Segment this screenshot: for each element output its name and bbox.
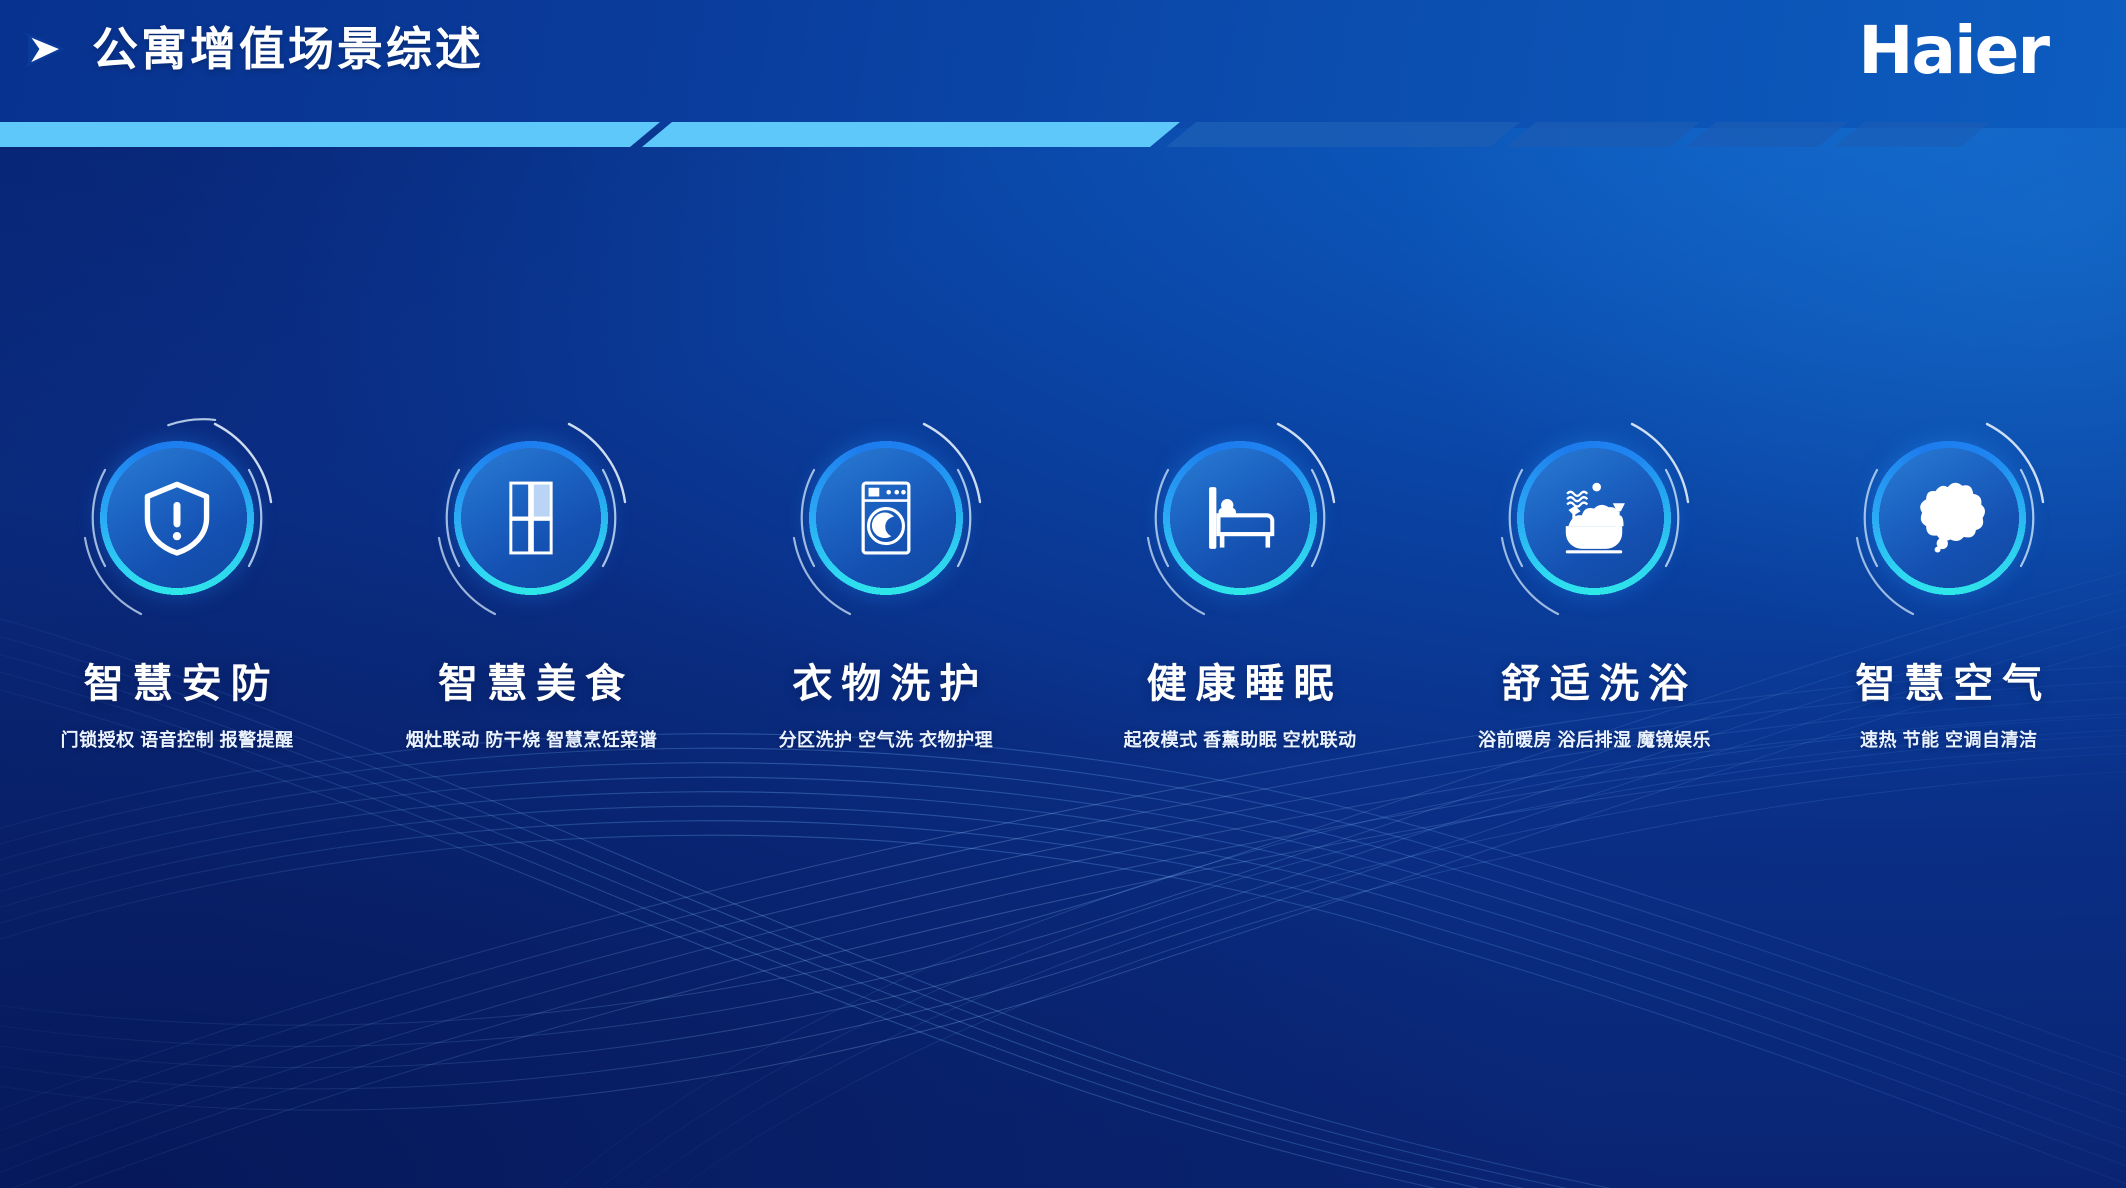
slide-header: 公寓增值场景综述 Haier: [0, 0, 2126, 128]
scene-badge: [1837, 406, 2061, 630]
scene-subtitle: 速热 节能 空调自清洁: [1860, 726, 2038, 752]
scene-badge: [1128, 406, 1352, 630]
haier-logo: Haier: [1858, 18, 2048, 84]
scene-item-laundry[interactable]: 衣物洗护 分区洗护 空气洗 衣物护理: [709, 406, 1063, 752]
arrow-right-triangle-icon: [22, 27, 66, 71]
bed-icon: [1197, 475, 1283, 561]
bathtub-icon: [1551, 475, 1637, 561]
shield-alert-icon: [134, 475, 220, 561]
cloud-air-icon: [1906, 475, 1992, 561]
scene-subtitle: 烟灶联动 防干烧 智慧烹饪菜谱: [406, 726, 658, 752]
page-title-group: 公寓增值场景综述: [22, 26, 484, 72]
scene-item-bathing[interactable]: 舒适洗浴 浴前暖房 浴后排湿 魔镜娱乐: [1417, 406, 1771, 752]
scene-badge: [774, 406, 998, 630]
scene-title: 舒适洗浴: [1492, 664, 1697, 704]
scene-disc: [1874, 443, 2024, 593]
scene-subtitle: 浴前暖房 浴后排湿 魔镜娱乐: [1478, 726, 1711, 752]
header-accent-band: [0, 122, 2126, 147]
scene-title: 智慧美食: [429, 664, 634, 704]
scene-badge: [419, 406, 643, 630]
scene-subtitle: 门锁授权 语音控制 报警提醒: [61, 726, 294, 752]
slide-canvas: 公寓增值场景综述 Haier: [0, 0, 2126, 1188]
scene-title: 智慧空气: [1846, 664, 2051, 704]
scene-list: 智慧安防 门锁授权 语音控制 报警提醒: [0, 406, 2126, 752]
scene-subtitle: 分区洗护 空气洗 衣物护理: [779, 726, 994, 752]
scene-item-air[interactable]: 智慧空气 速热 节能 空调自清洁: [1772, 406, 2126, 752]
scene-disc: [1165, 443, 1315, 593]
scene-badge: [1482, 406, 1706, 630]
scene-subtitle: 起夜模式 香薰助眠 空枕联动: [1124, 726, 1357, 752]
scene-title: 智慧安防: [75, 664, 280, 704]
scene-badge: [65, 406, 289, 630]
page-title: 公寓增值场景综述: [92, 26, 484, 72]
scene-disc: [456, 443, 606, 593]
scene-title: 衣物洗护: [783, 664, 988, 704]
scene-disc: [811, 443, 961, 593]
scene-item-security[interactable]: 智慧安防 门锁授权 语音控制 报警提醒: [0, 406, 354, 752]
scene-disc: [102, 443, 252, 593]
scene-item-sleep[interactable]: 健康睡眠 起夜模式 香薰助眠 空枕联动: [1063, 406, 1417, 752]
scene-disc: [1519, 443, 1669, 593]
scene-item-food[interactable]: 智慧美食 烟灶联动 防干烧 智慧烹饪菜谱: [354, 406, 708, 752]
refrigerator-icon: [488, 475, 574, 561]
washing-machine-icon: [843, 475, 929, 561]
scene-title: 健康睡眠: [1138, 664, 1343, 704]
